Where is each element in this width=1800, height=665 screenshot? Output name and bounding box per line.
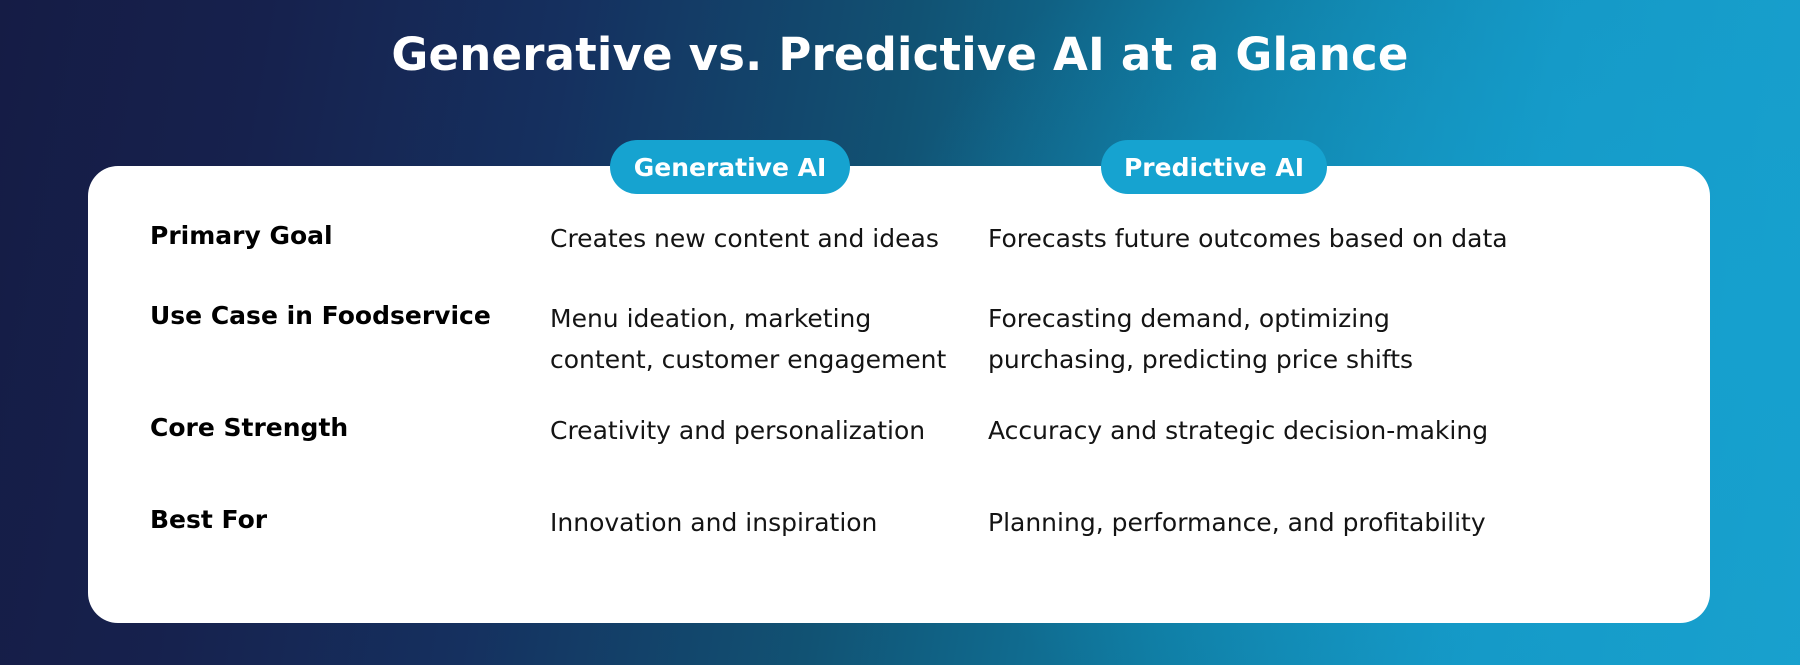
row-label: Best For [88, 502, 550, 594]
cell-predictive: Accuracy and strategic decision-making [975, 410, 1710, 502]
table-row: Use Case in Foodservice Menu ideation, m… [88, 298, 1710, 406]
cell-line: Planning, performance, and profitability [988, 502, 1710, 543]
table-row: Core Strength Creativity and personaliza… [88, 410, 1710, 502]
cell-line: Innovation and inspiration [550, 502, 975, 543]
row-label: Core Strength [88, 410, 550, 502]
table-row: Primary Goal Creates new content and ide… [88, 218, 1710, 310]
cell-predictive: Forecasts future outcomes based on data [975, 218, 1710, 310]
cell-generative: Creativity and personalization [550, 410, 975, 502]
cell-line: purchasing, predicting price shifts [988, 339, 1710, 380]
column-header-generative-ai: Generative AI [610, 140, 850, 194]
row-label: Primary Goal [88, 218, 550, 310]
cell-line: Forecasts future outcomes based on data [988, 218, 1710, 259]
cell-line: Accuracy and strategic decision-making [988, 410, 1710, 451]
page-title: Generative vs. Predictive AI at a Glance [0, 26, 1800, 84]
cell-generative: Menu ideation, marketing content, custom… [550, 298, 975, 406]
cell-generative: Innovation and inspiration [550, 502, 975, 594]
cell-line: Creates new content and ideas [550, 218, 975, 259]
infographic-canvas: Generative vs. Predictive AI at a Glance… [0, 0, 1800, 665]
column-header-predictive-ai: Predictive AI [1101, 140, 1327, 194]
table-row: Best For Innovation and inspiration Plan… [88, 502, 1710, 594]
comparison-table: Primary Goal Creates new content and ide… [88, 196, 1710, 608]
cell-line: Menu ideation, marketing [550, 298, 975, 339]
row-label: Use Case in Foodservice [88, 298, 550, 406]
cell-line: Forecasting demand, optimizing [988, 298, 1710, 339]
cell-line: Creativity and personalization [550, 410, 975, 451]
cell-generative: Creates new content and ideas [550, 218, 975, 310]
cell-predictive: Planning, performance, and profitability [975, 502, 1710, 594]
cell-line: content, customer engagement [550, 339, 975, 380]
cell-predictive: Forecasting demand, optimizing purchasin… [975, 298, 1710, 406]
